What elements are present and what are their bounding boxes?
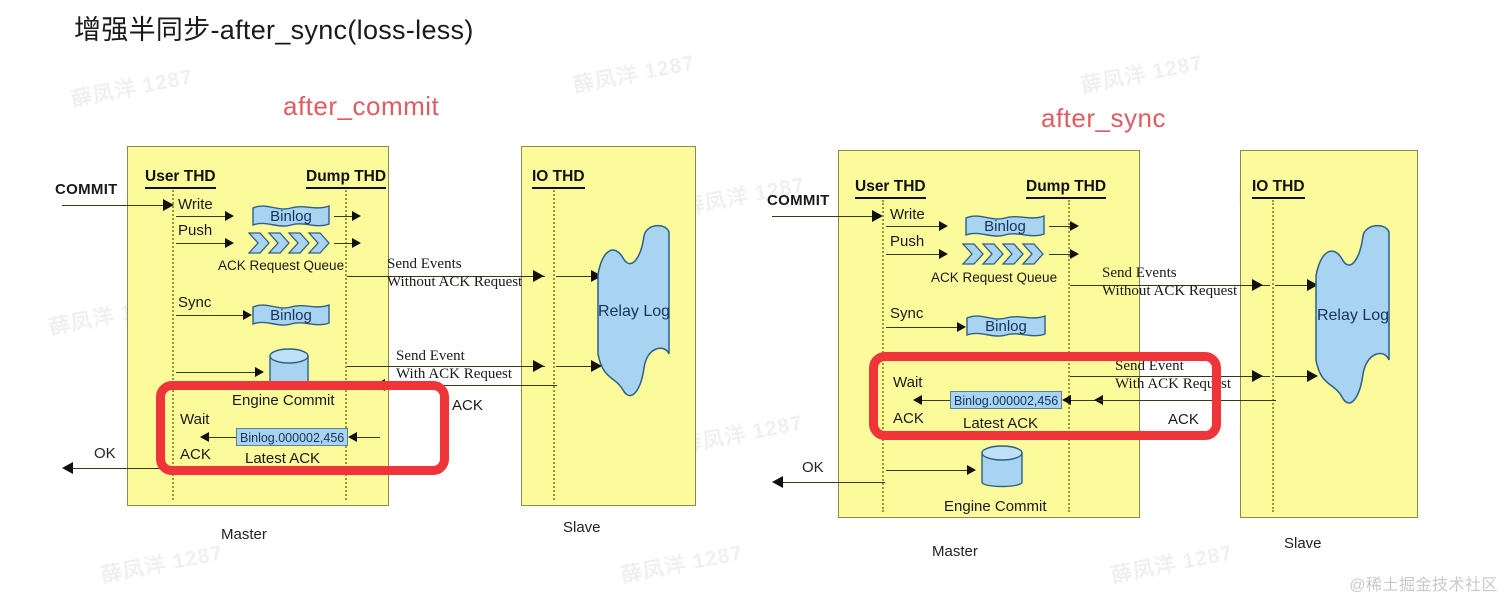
relay-log-after-commit: Relay Log [595, 222, 673, 402]
send-event-head-mid-after-sync [1252, 370, 1263, 382]
write-arrow-head [225, 211, 234, 221]
binlog-sync-label: Binlog [252, 301, 330, 329]
write-to-dump-head-after-sync [1070, 221, 1079, 231]
engine-commit-arrow-head-after-sync [967, 465, 976, 475]
push-arrow-head [225, 238, 234, 248]
sync-arrow-line-after-sync [886, 327, 960, 328]
binlog-write-after-commit: Binlog [252, 202, 330, 230]
binlog-sync-label-after-sync: Binlog [966, 312, 1046, 340]
step-push-after-sync: Push [890, 233, 924, 250]
write-arrow-line-after-sync [886, 226, 942, 227]
commit-label-after-commit: COMMIT [55, 181, 118, 198]
send-event-line1-after-commit: Send Event [396, 348, 465, 365]
highlight-box-after-sync [869, 352, 1221, 440]
binlog-write-label: Binlog [252, 202, 330, 230]
lane-io-thd-after-sync [1272, 200, 1274, 512]
step-push-after-commit: Push [178, 222, 212, 239]
engine-commit-arrow-head [255, 367, 264, 377]
diagram-canvas: 薛凤洋 1287 薛凤洋 1287 薛凤洋 1287 薛凤洋 1287 薛凤洋 … [0, 0, 1512, 603]
lane-header-io-thd-after-commit: IO THD [532, 168, 585, 189]
ack-request-queue-label-after-commit: ACK Request Queue [218, 258, 344, 273]
push-to-dump-head-after-sync [1070, 249, 1079, 259]
watermark: 薛凤洋 1287 [618, 536, 745, 589]
engine-commit-label-after-sync: Engine Commit [944, 498, 1047, 515]
step-write-after-commit: Write [178, 196, 213, 213]
master-slave-gap-after-sync [1141, 151, 1239, 517]
lane-header-user-thd-after-sync: User THD [855, 178, 926, 199]
ack-return-label-after-commit: ACK [452, 397, 483, 414]
binlog-write-label-after-sync: Binlog [965, 212, 1045, 240]
master-caption-after-commit: Master [221, 526, 267, 543]
relay-log-label-after-sync: Relay Log [1313, 222, 1393, 410]
push-arrow-line [176, 243, 228, 244]
commit-label-after-sync: COMMIT [767, 192, 830, 209]
engine-commit-arrow-line-after-sync [886, 470, 970, 471]
lane-io-thd-after-commit [553, 190, 555, 500]
lane-header-user-thd-after-commit: User THD [145, 168, 216, 189]
ack-request-queue-after-sync [962, 243, 1046, 265]
engine-commit-arrow-line [176, 372, 258, 373]
watermark: 薛凤洋 1287 [1078, 46, 1205, 99]
push-arrow-line-after-sync [886, 254, 942, 255]
write-arrow-head-after-sync [939, 221, 948, 231]
ack-request-queue-label-after-sync: ACK Request Queue [931, 270, 1057, 285]
page-title: 增强半同步-after_sync(loss-less) [74, 8, 474, 47]
commit-arrow-line [62, 205, 167, 206]
watermark: 薛凤洋 1287 [570, 46, 697, 99]
ack-request-queue-after-commit [248, 232, 332, 254]
step-sync-after-sync: Sync [890, 305, 923, 322]
send-events-line1-after-sync: Send Events [1102, 265, 1177, 282]
diagram-title-after-sync: after_sync [1041, 103, 1166, 134]
push-arrow-head-after-sync [939, 249, 948, 259]
push-to-dump-head [352, 238, 361, 248]
engine-commit-cylinder-after-sync [980, 444, 1024, 492]
lane-header-dump-thd-after-commit: Dump THD [306, 168, 386, 189]
sync-arrow-head-after-sync [957, 322, 966, 332]
send-events-line2-after-sync: Without ACK Request [1102, 283, 1237, 300]
commit-arrow-line-after-sync [772, 216, 876, 217]
send-events-line1-after-commit: Send Events [387, 256, 462, 273]
brand-watermark: @稀土掘金技术社区 [1349, 571, 1498, 595]
binlog-write-after-sync: Binlog [965, 212, 1045, 240]
relay-log-after-sync: Relay Log [1313, 222, 1393, 410]
write-arrow-line [176, 216, 228, 217]
ok-label-after-sync: OK [802, 459, 824, 476]
step-write-after-sync: Write [890, 206, 925, 223]
master-caption-after-sync: Master [932, 543, 978, 560]
slave-caption-after-sync: Slave [1284, 535, 1322, 552]
ok-label-after-commit: OK [94, 445, 116, 462]
ok-arrow-head [62, 462, 73, 474]
binlog-sync-after-commit: Binlog [252, 301, 330, 329]
send-events-head-mid-after-sync [1252, 279, 1263, 291]
send-events-line2-after-commit: Without ACK Request [387, 274, 522, 291]
relay-log-label-after-commit: Relay Log [595, 222, 673, 402]
write-to-dump-head [352, 211, 361, 221]
lane-header-io-thd-after-sync: IO THD [1252, 178, 1305, 199]
sync-arrow-head [243, 310, 252, 320]
watermark: 薛凤洋 1287 [98, 536, 225, 589]
watermark: 薛凤洋 1287 [1108, 536, 1235, 589]
binlog-sync-after-sync: Binlog [966, 312, 1046, 340]
slave-caption-after-commit: Slave [563, 519, 601, 536]
watermark: 薛凤洋 1287 [678, 406, 805, 459]
watermark: 薛凤洋 1287 [68, 60, 195, 113]
send-events-head-mid [533, 270, 544, 282]
diagram-title-after-commit: after_commit [283, 91, 439, 122]
sync-arrow-line [176, 315, 246, 316]
highlight-box-after-commit [156, 381, 449, 475]
lane-header-dump-thd-after-sync: Dump THD [1026, 178, 1106, 199]
send-event-head-mid [533, 360, 544, 372]
ok-arrow-head-after-sync [772, 476, 783, 488]
ok-arrow-line-after-sync [780, 482, 885, 483]
step-sync-after-commit: Sync [178, 294, 211, 311]
